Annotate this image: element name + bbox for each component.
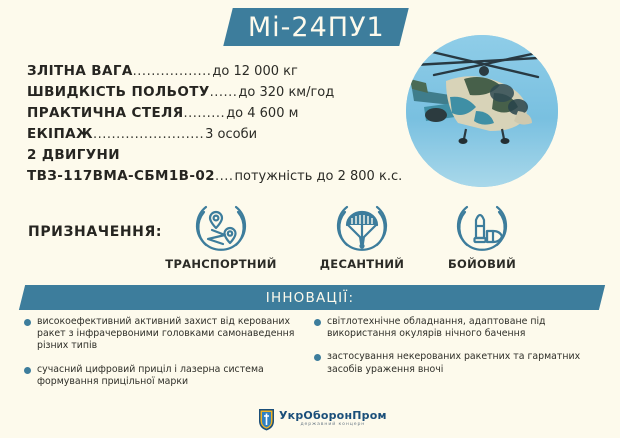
spec-row: 2 ДВИГУНИ bbox=[27, 147, 392, 168]
parachute-icon bbox=[333, 198, 391, 256]
bullet-dot-icon bbox=[24, 319, 31, 326]
title-banner: Mi-24ПУ1 bbox=[223, 8, 408, 46]
innovations-title: ІННОВАЦІЇ: bbox=[0, 285, 620, 310]
list-item: світлотехнічне обладнання, адаптоване пі… bbox=[314, 316, 614, 340]
purpose-caption: БОЙОВИЙ bbox=[422, 257, 542, 271]
spec-label: ПРАКТИЧНА СТЕЛЯ bbox=[27, 105, 183, 121]
shield-icon bbox=[258, 407, 275, 431]
spec-row: ШВИДКІСТЬ ПОЛЬОТУ ...... до 320 км/год bbox=[27, 84, 392, 105]
bullet-dot-icon bbox=[314, 319, 321, 326]
logo-name: УкрОборонПром bbox=[279, 410, 387, 422]
bullets-column-right: світлотехнічне обладнання, адаптоване пі… bbox=[314, 316, 614, 387]
list-item: сучасний цифровий приціл і лазерна систе… bbox=[24, 364, 309, 388]
logo-subtitle: державний концерн bbox=[279, 422, 387, 428]
page-title: Mi-24ПУ1 bbox=[248, 12, 385, 43]
ammunition-icon bbox=[453, 198, 511, 256]
spec-dots: ...... bbox=[210, 85, 238, 100]
specifications-list: ЗЛІТНА ВАГА ................. до 12 000 … bbox=[27, 63, 392, 189]
purpose-item-airborne: ДЕСАНТНИЙ bbox=[302, 198, 422, 271]
helicopter-illustration bbox=[406, 35, 558, 187]
spec-label: 2 ДВИГУНИ bbox=[27, 147, 120, 163]
purpose-caption: ДЕСАНТНИЙ bbox=[302, 257, 422, 271]
list-item: високоефективний активний захист від кер… bbox=[24, 316, 309, 353]
bullet-dot-icon bbox=[24, 367, 31, 374]
ukroboronprom-logo: УкрОборонПром державний концерн bbox=[258, 404, 378, 434]
spec-dots: .... bbox=[215, 169, 234, 184]
spec-value: до 12 000 кг bbox=[212, 64, 297, 79]
spec-dots: ......... bbox=[183, 106, 225, 121]
spec-dots: ................. bbox=[133, 64, 212, 79]
helicopter-photo bbox=[406, 35, 558, 187]
spec-dots: ........................ bbox=[93, 127, 204, 142]
spec-label: ТВЗ-117ВМА-СБМ1В-02 bbox=[27, 168, 215, 184]
bullets-column-left: високоефективний активний захист від кер… bbox=[24, 316, 309, 399]
spec-label: ЗЛІТНА ВАГА bbox=[27, 63, 133, 79]
spec-value: до 320 км/год bbox=[238, 85, 334, 100]
infographic-page: Mi-24ПУ1 bbox=[0, 0, 620, 438]
spec-row: ЕКІПАЖ ........................ 3 особи bbox=[27, 126, 392, 147]
spec-row: ПРАКТИЧНА СТЕЛЯ ......... до 4 600 м bbox=[27, 105, 392, 126]
spec-row: ТВЗ-117ВМА-СБМ1В-02 .... потужність до 2… bbox=[27, 168, 392, 189]
purpose-item-transport: ТРАНСПОРТНИЙ bbox=[161, 198, 281, 271]
list-item: застосування некерованих ракетних та гар… bbox=[314, 351, 614, 375]
route-pins-icon bbox=[192, 198, 250, 256]
spec-value: 3 особи bbox=[205, 127, 257, 142]
spec-row: ЗЛІТНА ВАГА ................. до 12 000 … bbox=[27, 63, 392, 84]
bullet-text: сучасний цифровий приціл і лазерна систе… bbox=[37, 364, 309, 388]
spec-value: потужність до 2 800 к.с. bbox=[234, 169, 402, 184]
bullet-text: світлотехнічне обладнання, адаптоване пі… bbox=[327, 316, 614, 340]
purpose-label: ПРИЗНАЧЕННЯ: bbox=[28, 224, 162, 240]
purpose-item-combat: БОЙОВИЙ bbox=[422, 198, 542, 271]
logo-wordmark: УкрОборонПром державний концерн bbox=[279, 410, 387, 428]
spec-value: до 4 600 м bbox=[226, 106, 298, 121]
bullet-text: високоефективний активний захист від кер… bbox=[37, 316, 309, 353]
spec-label: ЕКІПАЖ bbox=[27, 126, 93, 142]
bullet-dot-icon bbox=[314, 354, 321, 361]
purpose-caption: ТРАНСПОРТНИЙ bbox=[161, 257, 281, 271]
bullet-text: застосування некерованих ракетних та гар… bbox=[327, 351, 614, 375]
spec-label: ШВИДКІСТЬ ПОЛЬОТУ bbox=[27, 84, 210, 100]
